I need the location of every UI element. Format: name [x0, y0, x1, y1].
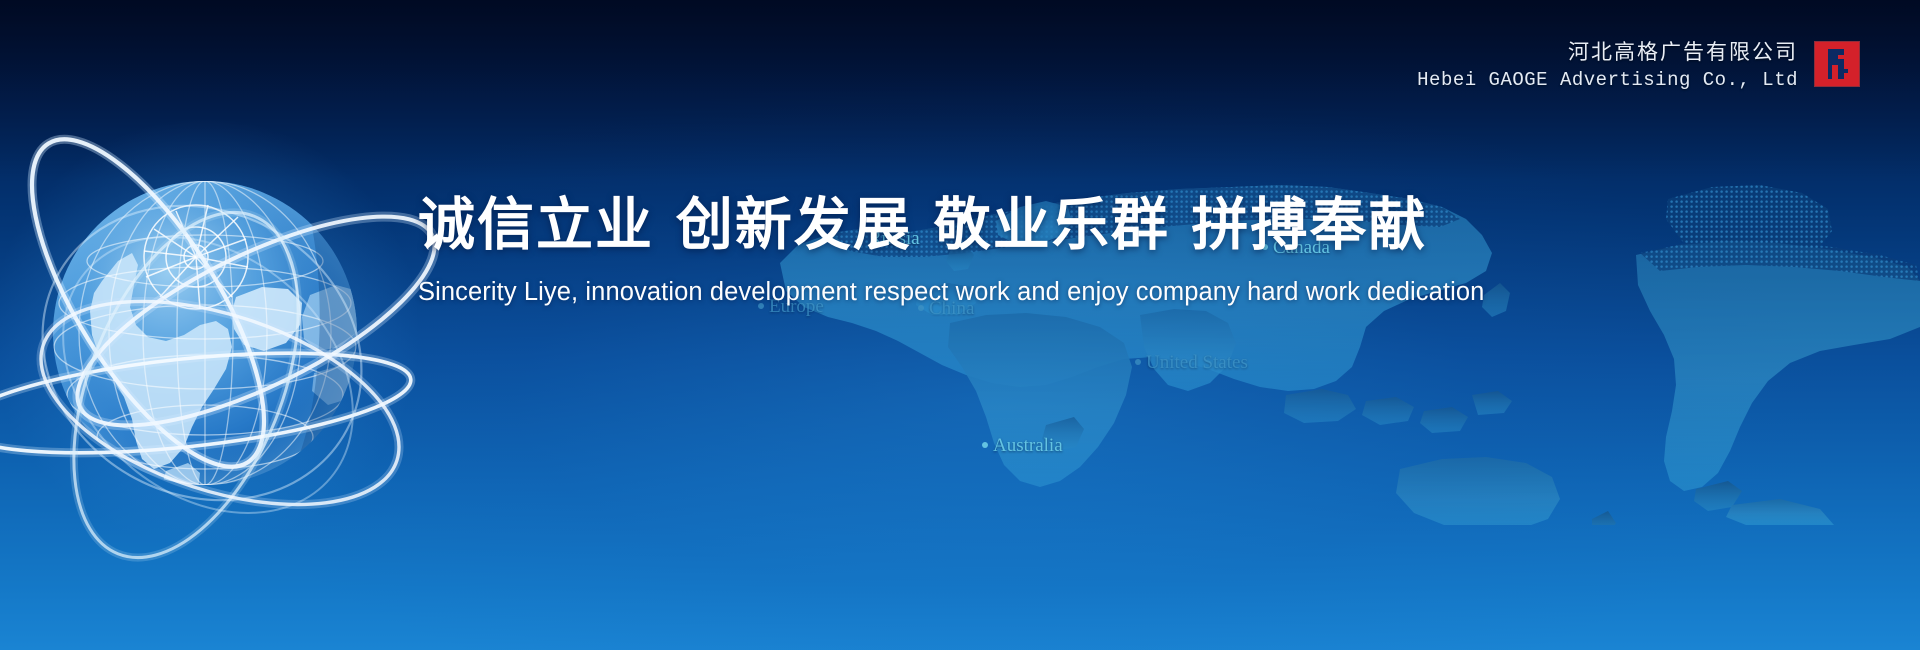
company-banner: Russia Canada China Europe United States…: [0, 0, 1920, 650]
map-label-dot: [1135, 359, 1141, 365]
map-label-united-states: United States: [1135, 352, 1248, 374]
globe-with-orbits-icon: [0, 85, 440, 565]
world-map-backdrop: [480, 95, 1920, 525]
company-name-block: 河北高格广告有限公司 Hebei GAOGE Advertising Co., …: [1417, 36, 1798, 91]
map-label-dot: [982, 442, 988, 448]
slogan-english: Sincerity Liye, innovation development r…: [418, 278, 1538, 307]
company-name-en: Hebei GAOGE Advertising Co., Ltd: [1417, 69, 1798, 91]
company-name-cn: 河北高格广告有限公司: [1568, 36, 1798, 66]
slogan-chinese: 诚信立业 创新发展 敬业乐群 拼搏奉献: [418, 196, 1538, 256]
gaoge-logo-icon[interactable]: [1814, 41, 1860, 87]
background-vignette: [0, 0, 1920, 650]
company-identity: 河北高格广告有限公司 Hebei GAOGE Advertising Co., …: [1417, 36, 1860, 91]
map-label-australia: Australia: [982, 435, 1063, 457]
slogan-block: 诚信立业 创新发展 敬业乐群 拼搏奉献 Sincerity Liye, inno…: [418, 196, 1538, 307]
